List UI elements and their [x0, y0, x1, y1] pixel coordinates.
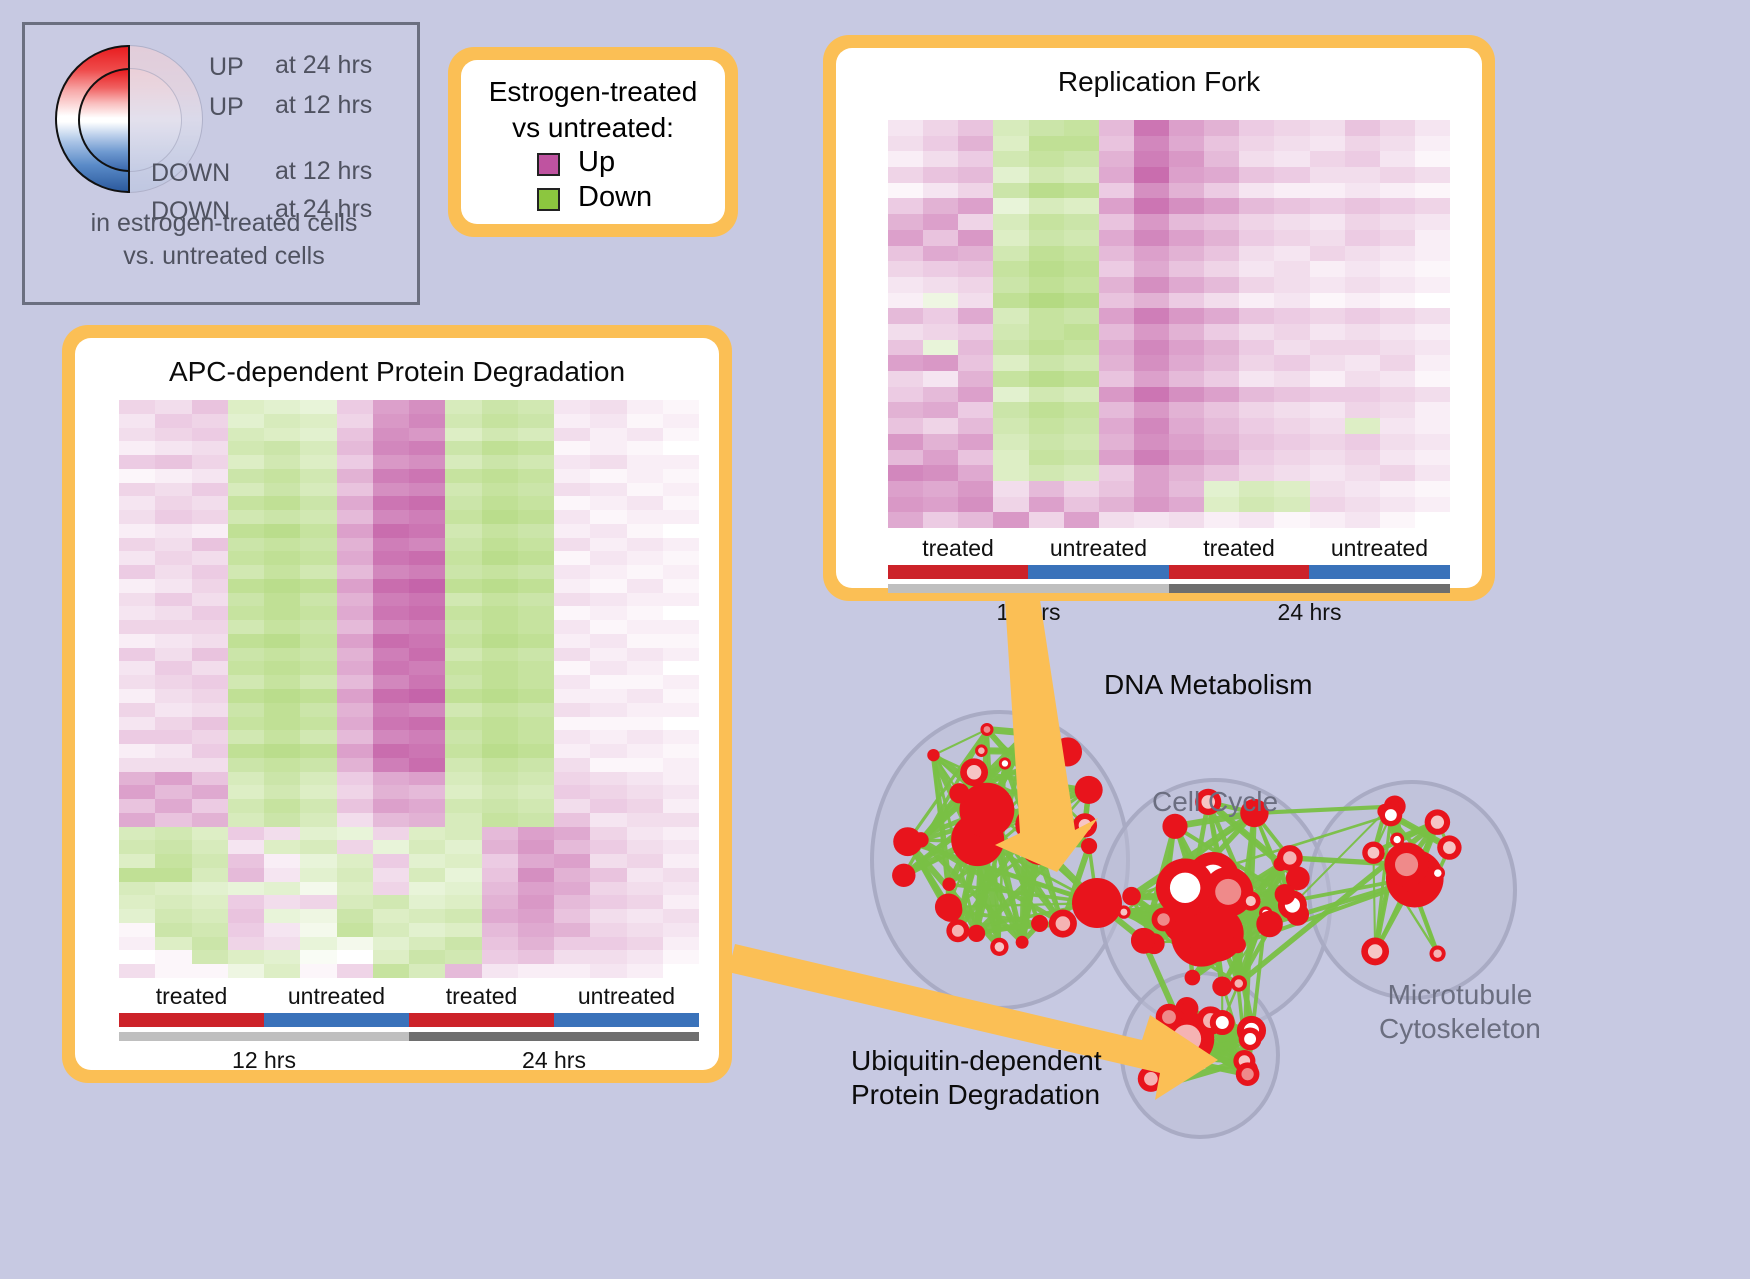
network-edge [1175, 826, 1239, 983]
network-edge [1213, 878, 1269, 924]
network-node [1248, 1026, 1261, 1039]
network-edge [1169, 1017, 1211, 1021]
network-edge [1187, 1009, 1222, 1023]
network-node-core [1393, 836, 1400, 843]
network-edge [981, 751, 1067, 752]
network-edge [1373, 822, 1437, 853]
network-edge [1169, 1009, 1187, 1017]
network-edge [1248, 913, 1266, 1074]
network-edge [948, 884, 949, 907]
network-edge [1397, 840, 1415, 879]
rf-group-label-3: untreated [1309, 535, 1450, 562]
network-edge [1201, 913, 1266, 937]
apc-time-bar-24hrs [409, 1032, 699, 1041]
network-edge [949, 884, 1097, 903]
network-node [990, 938, 1008, 956]
colorwheel-left-half [55, 45, 130, 193]
network-edge [958, 810, 987, 931]
network-node [1157, 1050, 1170, 1063]
network-edge [1143, 940, 1187, 1039]
network-edge [1163, 1057, 1244, 1061]
apc-time-bar-12hrs [119, 1032, 409, 1041]
network-edge [1373, 811, 1384, 852]
apc-time-label-12hrs: 12 hrs [119, 1047, 409, 1074]
network-node [1233, 1050, 1255, 1072]
network-edge [1251, 1031, 1254, 1033]
network-node-core [1385, 809, 1397, 821]
network-edge [921, 793, 959, 840]
network-edge [921, 840, 1022, 942]
network-edge [1144, 919, 1164, 940]
network-edge [974, 772, 999, 947]
network-node-core [1002, 760, 1008, 766]
network-edge [991, 806, 1022, 942]
network-edge [959, 752, 1067, 793]
network-edge [1165, 1039, 1250, 1084]
legend-swatch-down [537, 188, 560, 211]
network-edge [1215, 914, 1297, 933]
network-node-core [1433, 949, 1441, 957]
network-edge [1186, 934, 1216, 940]
network-edge [1085, 790, 1089, 825]
network-edge [981, 729, 987, 750]
network-edge [988, 810, 1085, 826]
network-edge [1022, 825, 1033, 943]
network-edge [987, 810, 1022, 942]
network-edge [1097, 903, 1215, 934]
network-edge [1151, 1021, 1211, 1079]
network-edge [1022, 804, 1045, 943]
network-edge [933, 755, 959, 793]
network-edge [1373, 853, 1406, 865]
network-node-core [1368, 847, 1380, 859]
network-edge [948, 903, 1097, 907]
rf-group-bar-1 [1028, 565, 1169, 579]
network-edge [904, 806, 991, 875]
apc-title: APC-dependent Protein Degradation [75, 356, 719, 388]
network-node-core [1199, 865, 1226, 892]
network-node [1081, 838, 1097, 854]
network-edge [904, 810, 987, 875]
network-edge [1169, 1017, 1248, 1074]
network-node [1185, 970, 1201, 986]
network-edge [974, 772, 1089, 790]
network-edge [1201, 894, 1285, 936]
network-edge [959, 790, 1088, 793]
network-edge [1222, 1023, 1254, 1033]
network-edge [1187, 1039, 1248, 1074]
legend-swatch-up [537, 153, 560, 176]
network-node-core [1244, 1023, 1259, 1038]
network-edge [1097, 903, 1143, 940]
network-node-core [1137, 934, 1150, 947]
network-edge [1154, 892, 1228, 944]
network-edge [1187, 1009, 1211, 1021]
network-node [1377, 804, 1392, 819]
network-node-core [1215, 879, 1241, 905]
network-node [1176, 931, 1194, 949]
network-edge [1415, 822, 1438, 878]
network-node [946, 919, 969, 942]
network-edge [1185, 813, 1254, 888]
network-node [1131, 928, 1155, 952]
network-edge [959, 752, 1067, 793]
network-node [1384, 842, 1428, 886]
network-node [1035, 793, 1056, 814]
network-node [1390, 833, 1404, 847]
network-edge [1397, 840, 1438, 874]
network-node [1379, 804, 1402, 827]
network-edge [1244, 813, 1254, 1061]
network-edge [1213, 878, 1215, 933]
network-edge [1005, 763, 1063, 923]
network-node [1384, 795, 1406, 817]
network-edge [1187, 1009, 1211, 1021]
network-edge [977, 923, 1040, 933]
network-node-core [1160, 1053, 1167, 1060]
network-edge [1438, 848, 1450, 874]
network-edge [977, 763, 1005, 933]
rf-time-bar-24hrs [1169, 584, 1450, 593]
network-edge [933, 729, 987, 755]
network-node [1278, 891, 1307, 920]
network-node [1187, 852, 1239, 904]
network-edge [1407, 822, 1438, 864]
network-edge [1292, 811, 1385, 905]
network-edge [987, 729, 999, 946]
network-edge [1124, 912, 1270, 924]
network-edge [1132, 894, 1285, 896]
network-edge [974, 772, 1040, 923]
network-edge [908, 842, 949, 907]
network-edge [1385, 811, 1438, 873]
network-node [1437, 835, 1461, 859]
network-node [1239, 1060, 1258, 1079]
network-edge [1290, 858, 1407, 865]
arrow-replication-fork [995, 600, 1098, 872]
network-edge [1132, 813, 1255, 896]
network-edge [1187, 1009, 1252, 1031]
network-node [1277, 845, 1303, 871]
network-node-core [941, 900, 955, 914]
network-edge [1154, 858, 1290, 944]
network-node-core [973, 796, 1002, 825]
network-node [1237, 1016, 1266, 1045]
network-edge [1144, 878, 1298, 940]
network-node-core [1262, 910, 1269, 917]
network-edge [1251, 901, 1270, 924]
network-node [1152, 908, 1176, 932]
network-edge [1201, 913, 1266, 937]
network-edge [1187, 913, 1266, 921]
network-edge [1397, 840, 1438, 874]
network-edge [987, 810, 1089, 846]
network-edge [1239, 864, 1281, 983]
network-node [935, 893, 962, 920]
network-edge [1270, 894, 1285, 924]
network-node [942, 878, 955, 891]
network-edge [1163, 1031, 1251, 1057]
network-node [1187, 905, 1244, 962]
network-edge [1022, 804, 1045, 943]
network-node-core [1181, 1003, 1193, 1015]
network-edge [933, 755, 976, 933]
legend-swatch-down-label: Down [578, 181, 652, 214]
network-edge [1237, 813, 1254, 945]
network-edge [1040, 790, 1089, 845]
network-edge [958, 903, 1097, 931]
network-node-core [1079, 819, 1092, 832]
network-edge [978, 733, 1028, 840]
network-edge [1154, 878, 1213, 944]
network-edge [1215, 864, 1280, 934]
network-edge [1187, 873, 1438, 921]
network-edge [1254, 813, 1297, 914]
network-node [1425, 809, 1451, 835]
network-edge [959, 793, 1062, 923]
network-edge [1237, 873, 1437, 945]
network-node [1122, 887, 1141, 906]
network-edge [1132, 896, 1164, 919]
estrogen-legend-line1: Estrogen-treated [461, 74, 725, 110]
network-edge [1395, 806, 1397, 839]
network-edge [959, 793, 999, 947]
network-edge [988, 810, 1089, 847]
network-edge [1192, 945, 1237, 978]
network-node [1273, 857, 1287, 871]
network-node [1203, 867, 1253, 917]
network-edge [1132, 896, 1164, 919]
network-edge [1132, 815, 1391, 896]
network-edge [1237, 945, 1238, 984]
network-node-core [1283, 851, 1296, 864]
network-edge [1187, 1039, 1248, 1074]
network-node-core [1203, 1013, 1218, 1028]
network-edge [933, 755, 948, 907]
network-edge [904, 790, 1089, 875]
network-edge [1187, 1039, 1245, 1061]
legend-key-up-12: UP [209, 93, 244, 122]
network-edge [1132, 896, 1251, 901]
network-edge [949, 804, 1045, 885]
network-edge [958, 840, 978, 931]
network-node [1175, 997, 1198, 1020]
network-node [1073, 813, 1097, 837]
network-edge [1169, 1017, 1187, 1039]
network-edge [958, 924, 1063, 931]
network-edge [1213, 878, 1292, 905]
network-node-core [1368, 944, 1382, 958]
network-edge [981, 751, 1067, 752]
network-edge [1169, 1017, 1244, 1061]
network-edge [1373, 853, 1437, 954]
network-edge [1250, 1031, 1251, 1039]
network-node-core [1030, 835, 1051, 856]
network-node-core [967, 765, 981, 779]
estrogen-legend-line2: vs untreated: [461, 110, 725, 146]
network-edge [921, 840, 1063, 924]
network-node-core [1277, 860, 1284, 867]
network-edge [1163, 1057, 1247, 1074]
network-edge [987, 729, 1085, 825]
network-edge [1375, 815, 1391, 951]
network-edge [978, 840, 1040, 845]
network-edge [1163, 1023, 1222, 1057]
network-edge [1397, 822, 1437, 839]
network-node-core [1216, 1016, 1229, 1029]
network-edge [1186, 858, 1290, 940]
apc-time-label-24hrs: 24 hrs [409, 1047, 699, 1074]
network-edge [1154, 921, 1186, 944]
network-edge [1185, 888, 1192, 978]
network-node-core [1434, 869, 1441, 876]
network-edge [959, 793, 977, 839]
legend-time-up-24: at 24 hrs [275, 53, 372, 78]
network-edge [1222, 1023, 1244, 1061]
network-node [1256, 911, 1283, 938]
network-node-core [1144, 1072, 1158, 1086]
network-edge [1251, 858, 1290, 901]
cluster-microtubule [1309, 782, 1515, 998]
network-edge [1239, 878, 1298, 983]
rf-group-bar-2 [1169, 565, 1309, 579]
network-edge [1244, 1031, 1251, 1061]
network-edge [1208, 802, 1239, 984]
network-edge [1085, 790, 1089, 825]
network-edge [1124, 901, 1251, 912]
network-edge [958, 804, 1046, 931]
network-edge [978, 840, 1022, 943]
network-edge [1375, 879, 1415, 952]
apc-group-label-3: untreated [554, 983, 699, 1010]
network-edge [949, 790, 1089, 884]
network-edge [1375, 840, 1397, 952]
network-edge [1385, 811, 1397, 839]
network-edge [904, 729, 987, 875]
network-edge [1151, 1031, 1252, 1079]
network-edge [1151, 1021, 1211, 1079]
network-node-core [995, 942, 1005, 952]
network-edge [987, 729, 1028, 733]
network-edge [988, 810, 1085, 826]
network-edge [1281, 864, 1293, 905]
network-edge [1085, 790, 1089, 825]
network-edge [978, 752, 1068, 840]
network-edge [1187, 892, 1229, 921]
network-node [1072, 878, 1122, 928]
network-node [1210, 1010, 1235, 1035]
network-node [938, 898, 962, 922]
legend-time-down-12: at 12 hrs [275, 159, 372, 184]
network-edge [933, 755, 1084, 825]
network-node-core [1400, 864, 1430, 894]
network-node [1021, 726, 1035, 740]
network-edge [974, 772, 987, 810]
network-node-core [978, 747, 985, 754]
network-node [963, 785, 1011, 833]
network-edge [921, 733, 1028, 840]
network-edge [978, 804, 1046, 840]
network-node-core [1174, 909, 1199, 934]
network-edge [1270, 873, 1438, 924]
network-edge [1222, 858, 1290, 986]
network-edge [1186, 924, 1270, 940]
network-edge [959, 763, 1005, 793]
network-edge [1251, 864, 1281, 901]
network-node-core [1389, 801, 1400, 812]
network-edge [1132, 896, 1155, 944]
network-edge [948, 810, 987, 907]
network-node [1075, 776, 1103, 804]
rf-time-label-24hrs: 24 hrs [1169, 599, 1450, 626]
network-edge [1046, 804, 1090, 846]
network-node [913, 832, 928, 847]
network-edge [1391, 815, 1450, 848]
network-edge [1163, 1017, 1169, 1057]
network-node [1241, 891, 1260, 910]
network-node [892, 864, 915, 887]
network-edge [1251, 901, 1298, 914]
network-node-core [952, 925, 964, 937]
apc-group-bar-1 [264, 1013, 409, 1027]
colorwheel-legend-box: UP at 24 hrs UP at 12 hrs DOWN at 12 hrs… [22, 22, 420, 305]
network-edge [1373, 815, 1390, 853]
network-node-core [1173, 1025, 1201, 1053]
network-edge [1169, 1017, 1187, 1039]
network-node-core [1157, 913, 1169, 925]
network-edge [950, 845, 1040, 910]
network-node-core [1381, 807, 1389, 815]
network-node [1429, 946, 1445, 962]
network-edge [987, 729, 1089, 846]
network-edge [1391, 815, 1450, 848]
network-node-core [984, 726, 991, 733]
apc-group-label-0: treated [119, 983, 264, 1010]
network-node [1362, 841, 1384, 863]
network-edge [950, 910, 1039, 924]
network-edge [1385, 811, 1438, 953]
legend-footer: in estrogen-treated cells vs. untreated … [25, 207, 423, 273]
network-edge [991, 806, 1040, 923]
network-edge [1222, 983, 1238, 1022]
legend-time-up-12: at 12 hrs [275, 93, 372, 118]
rf-group-bar-0 [888, 565, 1028, 579]
network-edge [1228, 892, 1239, 984]
network-edge [1187, 905, 1293, 921]
network-edge [987, 810, 1063, 923]
apc-heatmap [119, 400, 699, 978]
network-edge [1407, 865, 1415, 879]
network-node [1138, 1066, 1164, 1092]
network-node-core [1246, 896, 1256, 906]
network-edge [1164, 826, 1175, 919]
network-node [1156, 859, 1214, 917]
network-edge [1208, 802, 1254, 1033]
network-node [1156, 1004, 1183, 1031]
network-node [1286, 903, 1309, 926]
rf-group-label-2: treated [1169, 535, 1309, 562]
apc-panel: APC-dependent Protein Degradation treate… [62, 325, 732, 1083]
network-edge [1254, 813, 1297, 914]
network-edge [908, 842, 1000, 947]
network-edge [1097, 903, 1201, 937]
replication-fork-heatmap [888, 120, 1450, 528]
network-edge [1164, 914, 1298, 919]
network-node [1160, 1011, 1215, 1066]
network-edge [1215, 934, 1222, 987]
network-edge [1391, 815, 1407, 865]
network-node [968, 925, 985, 942]
